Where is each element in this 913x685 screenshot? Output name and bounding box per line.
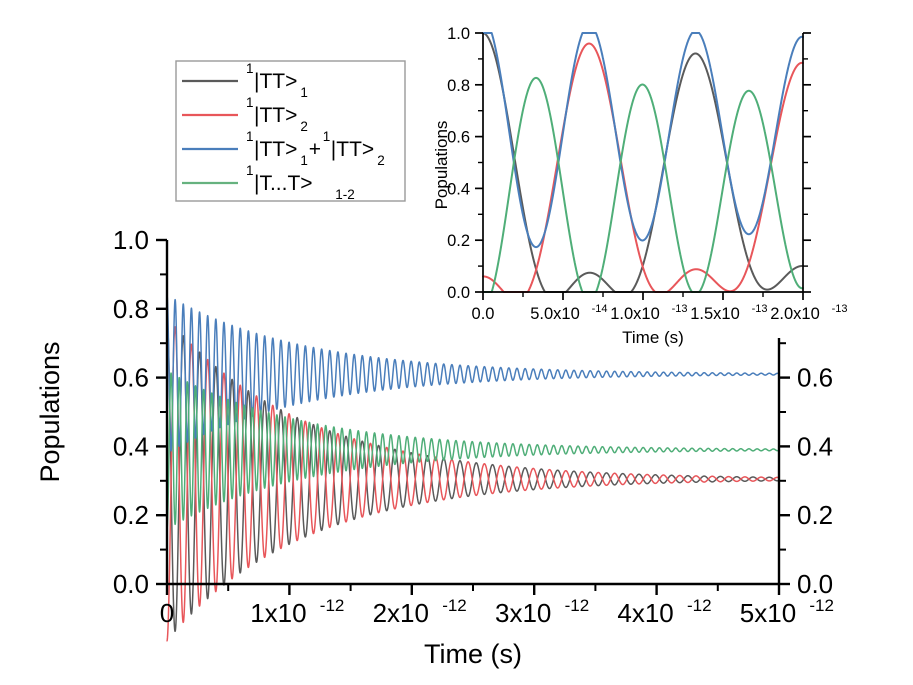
inset-ytick-label-0: 0.0 [447,284,470,302]
inset-ytick-label-5: 1.0 [447,25,470,43]
main-x-axis-title: Time (s) [424,639,522,669]
main-ytick-left-label-4: 0.8 [113,294,149,324]
main-xtick-label-5: 5x10-12 [740,596,834,628]
main-xtick-mantissa-2: 2x10 [373,598,429,628]
legend-subscript-t-dot-t: 1-2 [335,187,355,202]
main-xtick-label-4: 4x10-12 [617,596,711,628]
inset-xtick-exponent-1: -14 [592,303,608,315]
legend-subscript-tt1: 1 [300,85,308,100]
plot-canvas: 0.00.20.40.60.81.00.00.20.40.60.81.001x1… [0,0,913,685]
main-ytick-left-label-0: 0.0 [113,569,149,599]
inset-x-axis-title: Time (s) [622,328,684,347]
main-xtick-label-0: 0 [160,598,174,628]
legend-label-tt1: |TT> [254,70,297,93]
main-xtick-exponent-1: -12 [320,596,345,615]
legend-subscript-tt2: 2 [300,119,308,134]
main-ytick-right-label-2: 0.4 [797,431,833,461]
main-xtick-label-2: 2x10-12 [373,596,467,628]
main-xtick-exponent-4: -12 [687,596,712,615]
inset-xtick-mantissa-3: 1.5x10 [690,305,740,323]
legend-subscript2-tt1-plus-tt2: 2 [377,153,385,168]
main-ytick-left-label-1: 0.2 [113,500,149,530]
inset-y-axis-title: Populations [432,121,451,210]
inset-xtick-exponent-3: -13 [752,303,768,315]
inset-xtick-label-0: 0.0 [472,305,495,323]
main-xtick-label-3: 3x10-12 [495,596,589,628]
main-ytick-left-label-2: 0.4 [113,431,149,461]
main-ytick-left-label-5: 1.0 [113,225,149,255]
figure-root: 0.00.20.40.60.81.00.00.20.40.60.81.001x1… [0,0,913,685]
legend-subscript-tt1-plus-tt2: 1 [300,153,308,168]
main-xtick-exponent-5: -12 [809,596,834,615]
inset-ytick-label-4: 0.8 [447,77,470,95]
inset-ytick-label-1: 0.2 [447,232,470,250]
legend-group: 1|TT>11|TT>21|TT>1+1|TT>21|T...T>1-2 [176,61,405,202]
legend-label-tt1-plus-tt2: |TT> [254,138,297,161]
inset-xtick-mantissa-2: 1.0x10 [610,305,660,323]
legend-operator-tt1-plus-tt2: + [309,138,321,161]
inset-xtick-mantissa-0: 0.0 [472,305,495,323]
legend-label2-tt1-plus-tt2: |TT> [331,138,374,161]
legend-superscript-tt1: 1 [246,61,254,76]
legend-superscript-t-dot-t: 1 [246,163,254,178]
legend-superscript-tt1-plus-tt2: 1 [246,129,254,144]
legend-superscript-tt2: 1 [246,95,254,110]
legend-label-t-dot-t: |T...T> [254,172,313,195]
main-xtick-exponent-2: -12 [442,596,467,615]
main-xtick-mantissa-4: 4x10 [617,598,673,628]
inset-xtick-mantissa-4: 2.0x10 [770,305,820,323]
main-xtick-exponent-3: -12 [565,596,590,615]
legend-superscript2-tt1-plus-tt2: 1 [323,129,331,144]
main-ytick-right-label-1: 0.2 [797,500,833,530]
inset-xtick-exponent-2: -13 [672,303,688,315]
main-xtick-mantissa-5: 5x10 [740,598,796,628]
main-xtick-label-1: 1x10-12 [250,596,344,628]
main-ytick-right-label-0: 0.0 [797,569,833,599]
main-ytick-right-label-3: 0.6 [797,363,833,393]
inset-xtick-exponent-4: -13 [832,303,848,315]
inset-plot-group: 0.00.20.40.60.81.00.05.0x10-141.0x10-131… [428,8,908,347]
main-y-axis-title: Populations [35,341,65,482]
main-xtick-mantissa-3: 3x10 [495,598,551,628]
main-xtick-mantissa-0: 0 [160,598,174,628]
inset-xtick-mantissa-1: 5.0x10 [530,305,580,323]
main-xtick-mantissa-1: 1x10 [250,598,306,628]
legend-label-tt2: |TT> [254,104,297,127]
main-ytick-left-label-3: 0.6 [113,363,149,393]
